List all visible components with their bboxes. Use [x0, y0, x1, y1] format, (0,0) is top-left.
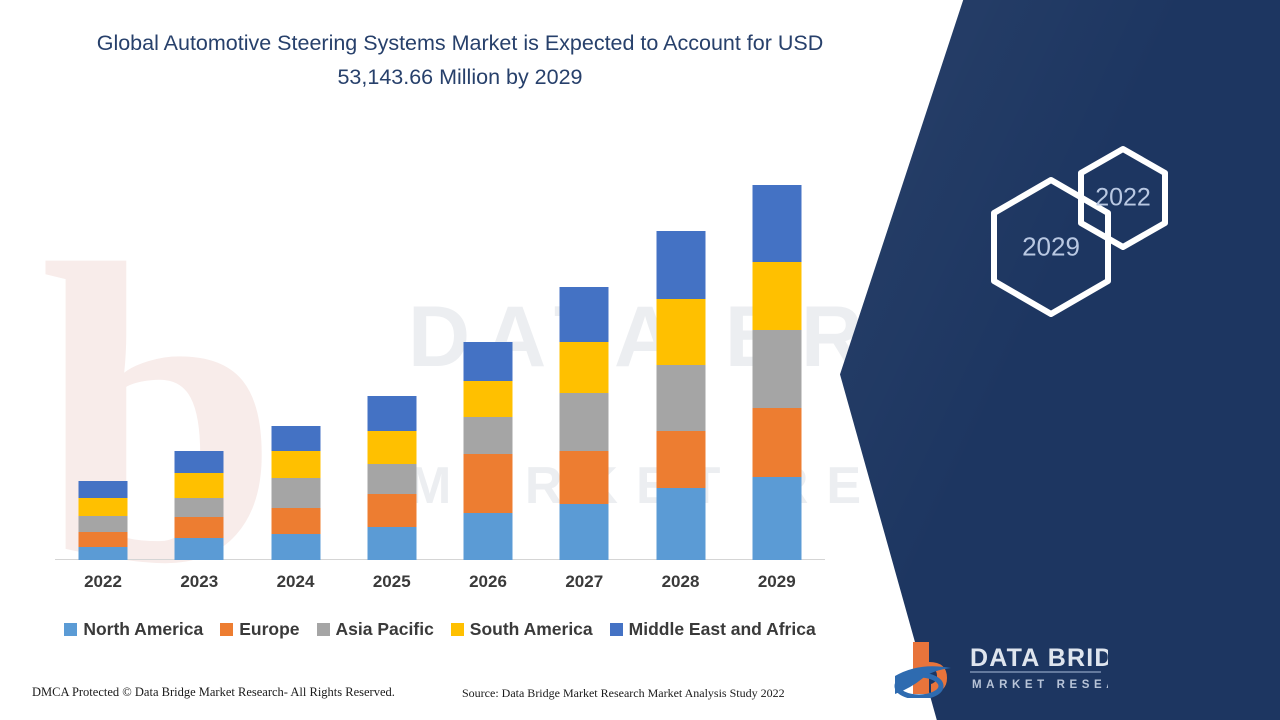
x-tick-2022: 2022	[55, 572, 151, 592]
bar-segment-south-america[interactable]	[79, 498, 128, 516]
legend-swatch-icon	[220, 623, 233, 636]
bar-segment-north-america[interactable]	[560, 504, 609, 560]
stacked-bar[interactable]	[367, 396, 416, 560]
bar-column-2023	[151, 150, 247, 560]
bar-segment-south-america[interactable]	[752, 262, 801, 331]
bar-segment-asia-pacific[interactable]	[367, 464, 416, 495]
bar-segment-asia-pacific[interactable]	[464, 417, 513, 455]
hexagon-2022-label: 2022	[1076, 184, 1170, 213]
legend-item-europe[interactable]: Europe	[220, 619, 299, 640]
logo-mark-icon	[895, 642, 951, 697]
bar-segment-europe[interactable]	[560, 451, 609, 503]
legend-label: North America	[83, 619, 203, 640]
bar-column-2029	[729, 150, 825, 560]
bar-column-2025	[344, 150, 440, 560]
bar-segment-middle-east-and-africa[interactable]	[560, 287, 609, 341]
chart-title: Global Automotive Steering Systems Marke…	[60, 26, 860, 94]
bar-segment-europe[interactable]	[464, 454, 513, 512]
bar-segment-south-america[interactable]	[656, 299, 705, 366]
bar-segment-north-america[interactable]	[752, 477, 801, 560]
right-side-panel	[840, 0, 1280, 720]
bar-segment-middle-east-and-africa[interactable]	[464, 342, 513, 381]
x-tick-2028: 2028	[633, 572, 729, 592]
bar-segment-middle-east-and-africa[interactable]	[175, 451, 224, 473]
legend-label: South America	[470, 619, 593, 640]
logo-primary-text: DATA BRIDGE	[970, 644, 1108, 672]
bar-segment-asia-pacific[interactable]	[752, 330, 801, 408]
infographic-page: b DATA BRIDGE MARKET RESEARCH Global Aut…	[0, 0, 1280, 720]
bar-column-2024	[248, 150, 344, 560]
x-tick-2029: 2029	[729, 572, 825, 592]
bar-segment-europe[interactable]	[367, 494, 416, 527]
x-tick-2023: 2023	[151, 572, 247, 592]
bar-segment-europe[interactable]	[175, 517, 224, 539]
legend-label: Asia Pacific	[336, 619, 434, 640]
stacked-bar[interactable]	[271, 426, 320, 560]
bar-segment-north-america[interactable]	[271, 534, 320, 560]
logo-secondary-text: MARKET RESEARCH	[972, 679, 1108, 691]
legend-swatch-icon	[64, 623, 77, 636]
bar-segment-middle-east-and-africa[interactable]	[752, 185, 801, 262]
bar-segment-north-america[interactable]	[464, 513, 513, 560]
bar-segment-asia-pacific[interactable]	[656, 365, 705, 431]
bar-segment-south-america[interactable]	[464, 381, 513, 417]
bar-segment-north-america[interactable]	[175, 538, 224, 560]
bar-segment-south-america[interactable]	[560, 342, 609, 393]
bar-segment-asia-pacific[interactable]	[79, 516, 128, 532]
bar-column-2028	[633, 150, 729, 560]
footer-source: Source: Data Bridge Market Research Mark…	[462, 686, 785, 701]
legend-swatch-icon	[610, 623, 623, 636]
bar-segment-south-america[interactable]	[175, 473, 224, 498]
bar-segment-asia-pacific[interactable]	[560, 393, 609, 451]
stacked-bar[interactable]	[79, 481, 128, 560]
bar-segment-middle-east-and-africa[interactable]	[79, 481, 128, 497]
x-tick-2027: 2027	[536, 572, 632, 592]
bar-column-2022	[55, 150, 151, 560]
legend-item-middle-east-and-africa[interactable]: Middle East and Africa	[610, 619, 816, 640]
bar-segment-north-america[interactable]	[367, 527, 416, 560]
bar-segment-north-america[interactable]	[656, 488, 705, 560]
bar-segment-europe[interactable]	[79, 532, 128, 546]
stacked-bar[interactable]	[656, 231, 705, 560]
data-bridge-logo: DATA BRIDGE MARKET RESEARCH	[893, 636, 1108, 698]
bar-segment-asia-pacific[interactable]	[271, 478, 320, 508]
hexagon-2022: 2022	[1076, 145, 1170, 251]
legend-item-north-america[interactable]: North America	[64, 619, 203, 640]
bar-segment-middle-east-and-africa[interactable]	[271, 426, 320, 452]
bar-segment-north-america[interactable]	[79, 547, 128, 560]
bar-segment-middle-east-and-africa[interactable]	[656, 231, 705, 299]
bar-segment-europe[interactable]	[752, 408, 801, 477]
stacked-bar[interactable]	[752, 185, 801, 560]
bar-segment-asia-pacific[interactable]	[175, 498, 224, 517]
x-tick-2024: 2024	[248, 572, 344, 592]
legend-label: Middle East and Africa	[629, 619, 816, 640]
footer-copyright: DMCA Protected © Data Bridge Market Rese…	[32, 685, 395, 700]
legend-label: Europe	[239, 619, 299, 640]
legend-item-asia-pacific[interactable]: Asia Pacific	[317, 619, 434, 640]
legend-item-south-america[interactable]: South America	[451, 619, 593, 640]
bar-segment-middle-east-and-africa[interactable]	[367, 396, 416, 431]
x-tick-2026: 2026	[440, 572, 536, 592]
stacked-bar[interactable]	[175, 451, 224, 560]
stacked-bar[interactable]	[560, 287, 609, 560]
x-axis-tick-labels: 20222023202420252026202720282029	[55, 572, 825, 600]
bar-segment-south-america[interactable]	[271, 451, 320, 478]
legend-swatch-icon	[317, 623, 330, 636]
bar-segment-europe[interactable]	[271, 508, 320, 535]
stacked-bar-chart	[55, 150, 825, 560]
stacked-bar[interactable]	[464, 342, 513, 560]
bar-segment-europe[interactable]	[656, 431, 705, 488]
bar-segment-south-america[interactable]	[367, 431, 416, 464]
bar-column-2027	[536, 150, 632, 560]
legend-swatch-icon	[451, 623, 464, 636]
chart-legend: North AmericaEuropeAsia PacificSouth Ame…	[55, 616, 825, 642]
bar-column-2026	[440, 150, 536, 560]
x-tick-2025: 2025	[344, 572, 440, 592]
